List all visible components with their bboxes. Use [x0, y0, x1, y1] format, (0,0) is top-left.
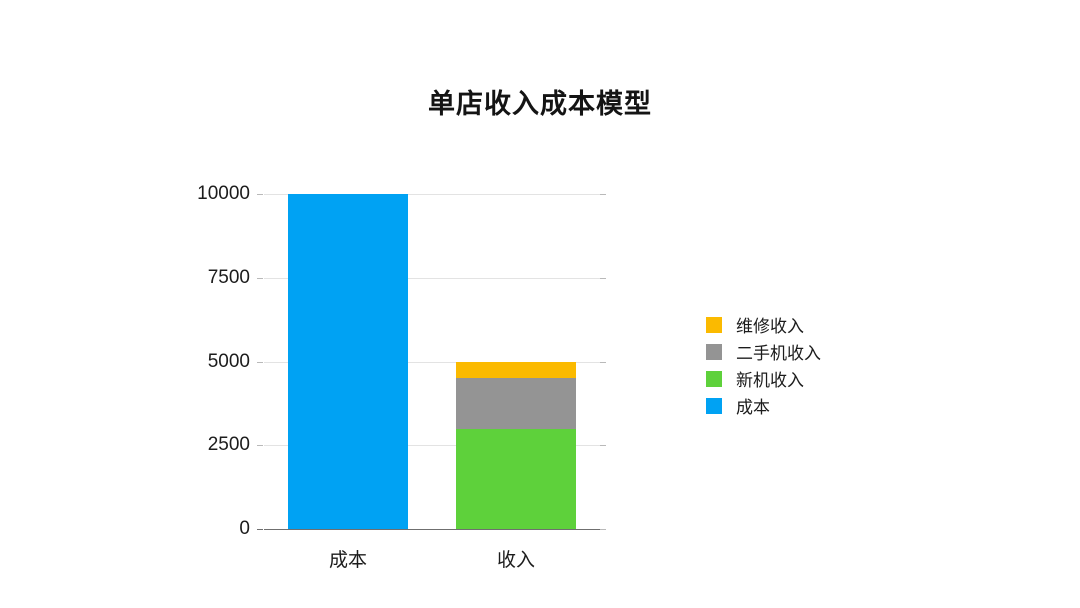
y-axis-tick [257, 529, 263, 530]
bar-segment[interactable] [456, 362, 576, 379]
legend-item-label: 新机收入 [736, 366, 804, 391]
bar-segment[interactable] [288, 194, 408, 529]
legend-swatch-icon [706, 344, 722, 360]
legend-swatch-icon [706, 398, 722, 414]
y-axis-tick-label: 5000 [208, 351, 250, 373]
y-axis-tick-right [600, 445, 606, 446]
legend-swatch-icon [706, 371, 722, 387]
chart-title: 单店收入成本模型 [0, 82, 1080, 121]
y-axis-tick-label: 10000 [197, 183, 250, 205]
legend-item[interactable]: 二手机收入 [706, 338, 821, 365]
plot-area: 025005000750010000 成本收入 [264, 194, 600, 529]
y-axis-tick [257, 278, 263, 279]
bar-segment[interactable] [456, 378, 576, 428]
chart-canvas: 单店收入成本模型 025005000750010000 成本收入 维修收入二手机… [0, 0, 1080, 608]
y-axis-tick [257, 362, 263, 363]
x-axis-tick-label: 成本 [264, 545, 432, 572]
bar-segment[interactable] [456, 429, 576, 530]
x-axis-tick-label: 收入 [432, 545, 600, 572]
bar-group[interactable] [456, 194, 576, 529]
legend-swatch-icon [706, 317, 722, 333]
y-axis-tick [257, 194, 263, 195]
y-axis-tick-label: 7500 [208, 267, 250, 289]
y-axis-tick-right [600, 278, 606, 279]
y-axis-tick-right [600, 362, 606, 363]
legend-item-label: 维修收入 [736, 312, 804, 337]
legend-item[interactable]: 维修收入 [706, 311, 821, 338]
y-axis-tick-right [600, 194, 606, 195]
y-axis-tick-label: 2500 [208, 434, 250, 456]
bar-group[interactable] [288, 194, 408, 529]
legend-item[interactable]: 成本 [706, 392, 821, 419]
legend-item[interactable]: 新机收入 [706, 365, 821, 392]
y-axis-tick-right [600, 529, 606, 530]
chart-legend: 维修收入二手机收入新机收入成本 [706, 311, 821, 419]
legend-item-label: 成本 [736, 393, 770, 418]
y-axis-tick-label: 0 [239, 518, 250, 540]
y-axis-tick [257, 445, 263, 446]
axis-baseline [264, 529, 600, 530]
legend-item-label: 二手机收入 [736, 339, 821, 364]
